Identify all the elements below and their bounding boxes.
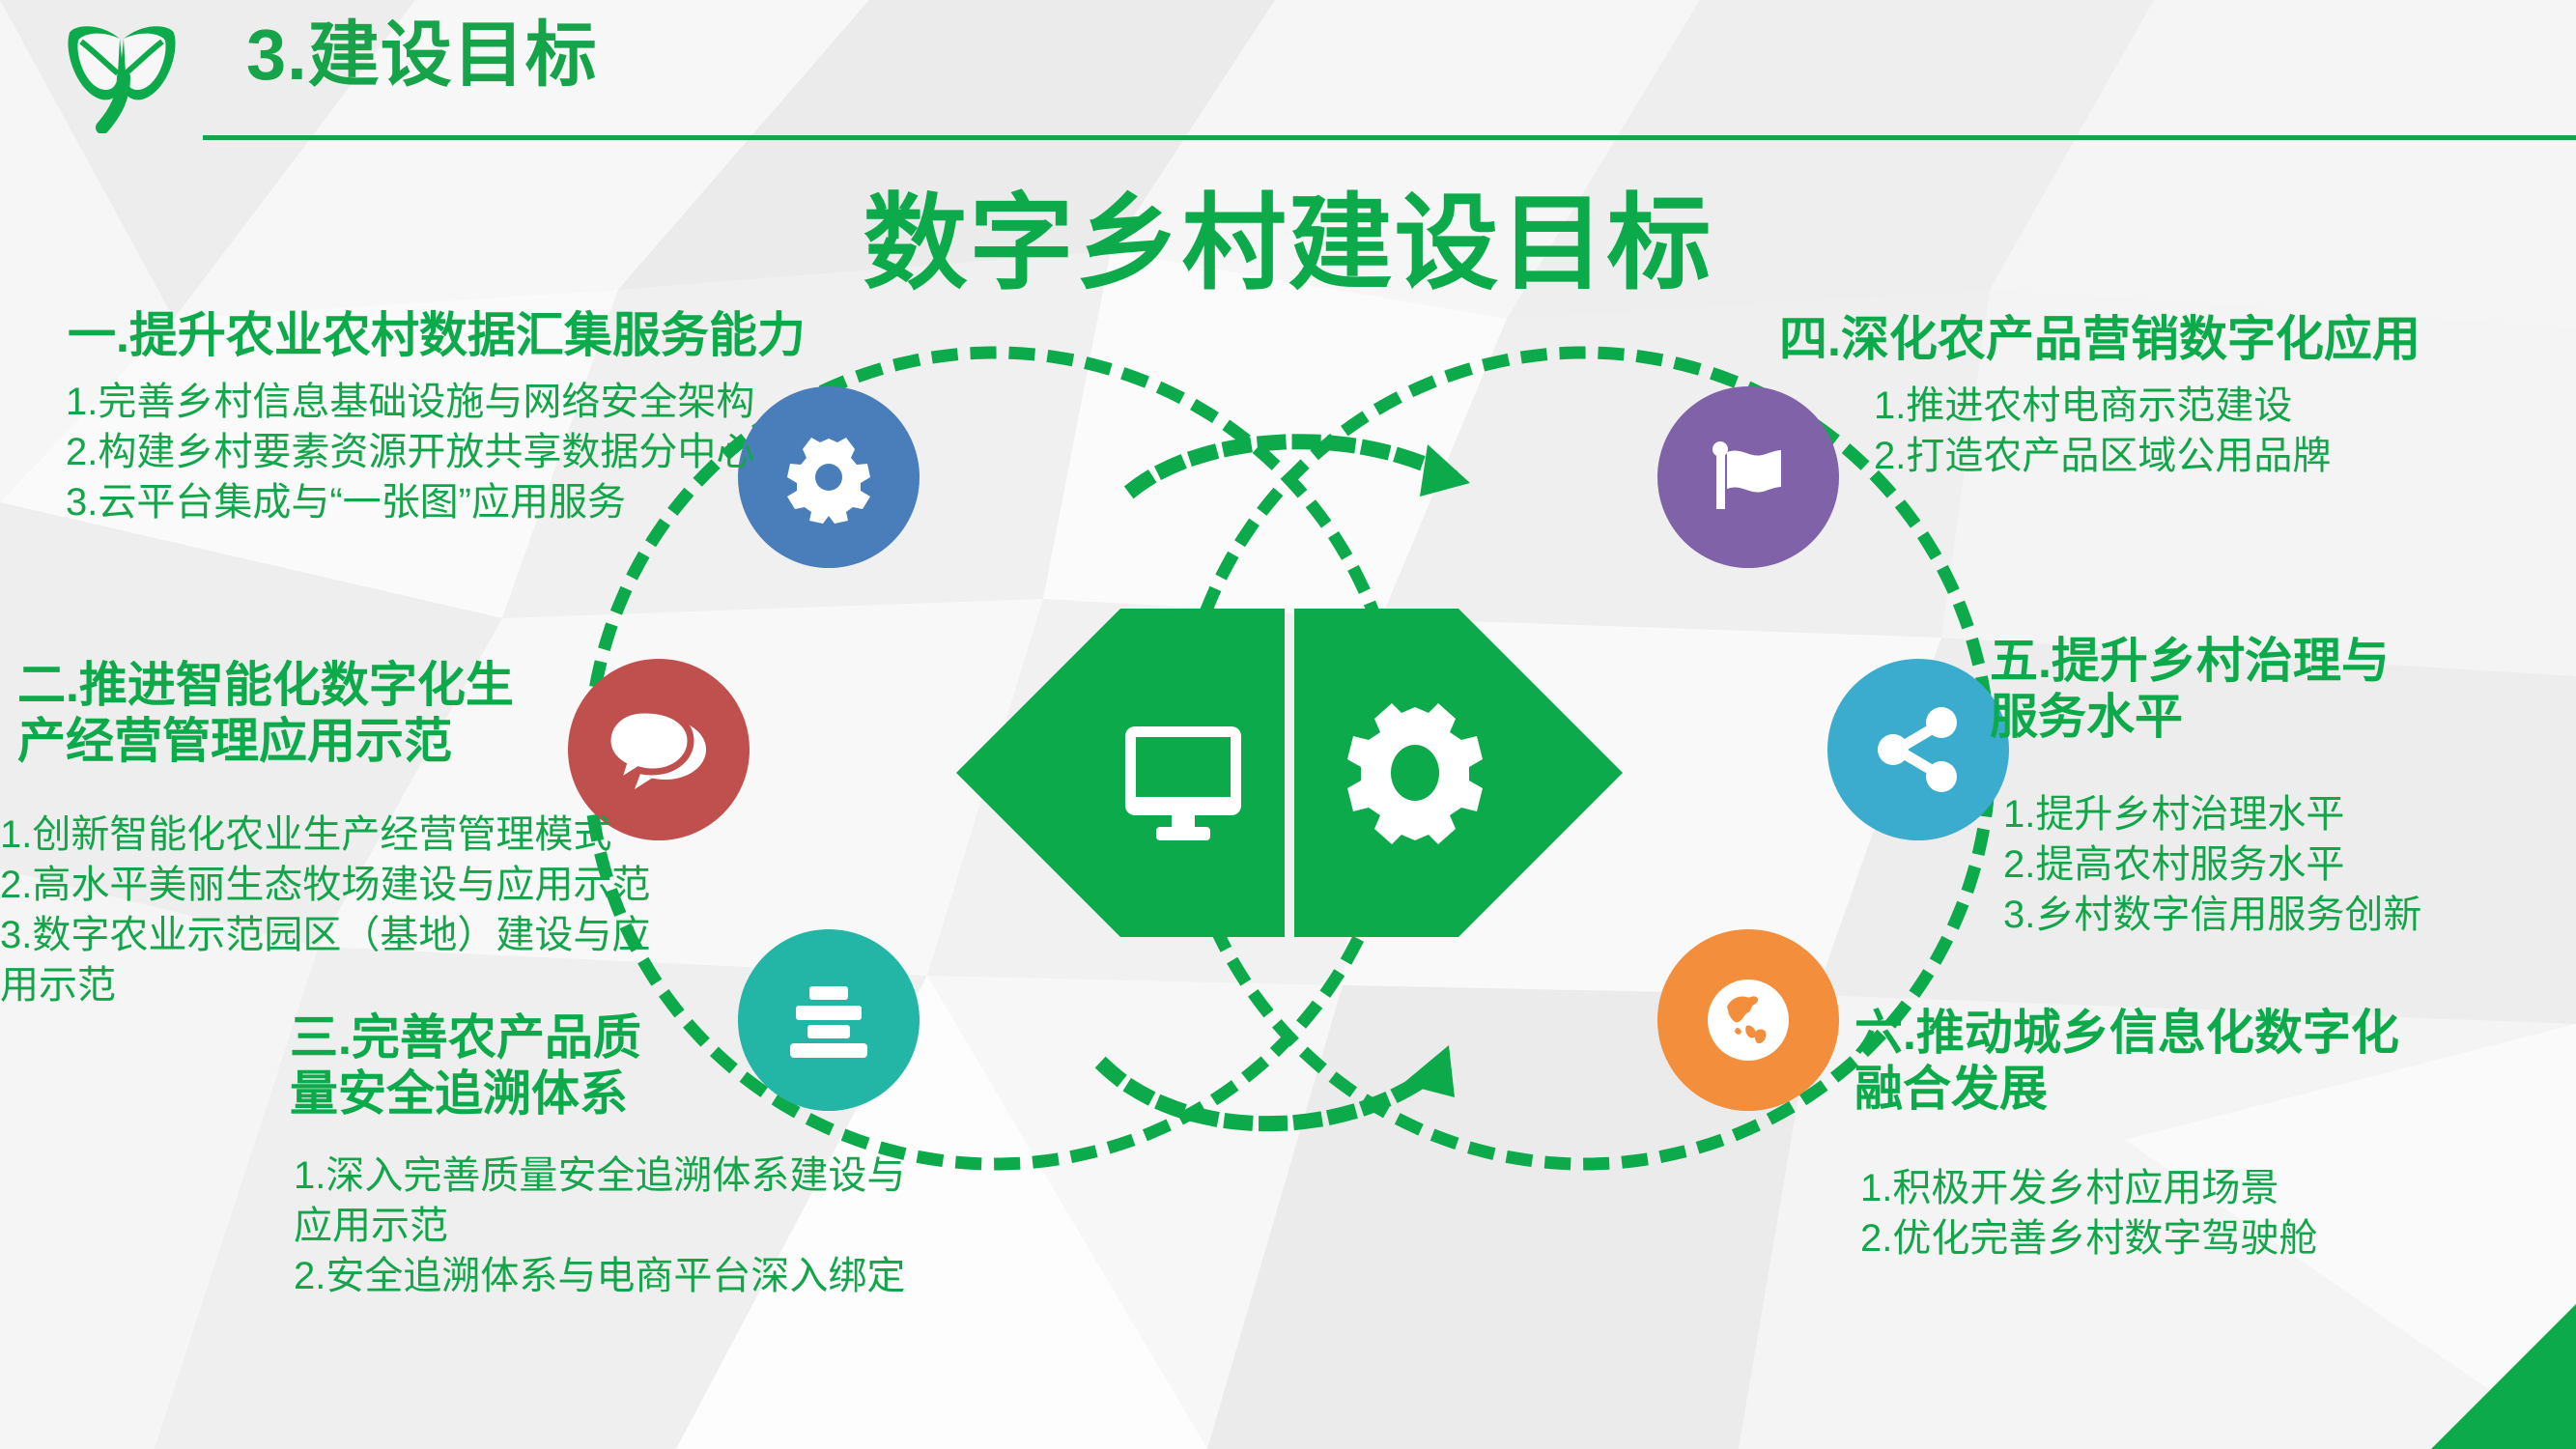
section-four-heading: 四.深化农产品营销数字化应用 [1729,311,2560,367]
top-arrowhead [1420,444,1470,497]
section-three-heading: 三.完善农产品质 量安全追溯体系 [222,1009,937,1122]
section-five-list: 1.提升乡村治理水平 2.提高农村服务水平 3.乡村数字信用服务创新 [2003,789,2569,940]
section-three: 三.完善农产品质 量安全追溯体系 1.深入完善质量安全追溯体系建设与 应用示范 … [222,1009,937,1301]
list-item: 3.云平台集成与“一张图”应用服务 [66,477,908,527]
globe-icon [1704,976,1793,1065]
page-title: 3.建设目标 [246,17,598,93]
list-item: 3.乡村数字信用服务创新 [2003,890,2569,940]
section-five-heading: 五.提升乡村治理与 服务水平 [1990,633,2569,745]
node-circle-six[interactable] [1657,929,1839,1111]
slide-header: 3.建设目标 [0,0,2576,145]
section-six: 六.推动城乡信息化数字化 融合发展 1.积极开发乡村应用场景 2.优化完善乡村数… [1854,1005,2576,1264]
section-three-list: 1.深入完善质量安全追溯体系建设与 应用示范 2.安全追溯体系与电商平台深入绑定 [294,1151,937,1301]
center-hexagon-graphic [951,609,1628,937]
main-title: 数字乡村建设目标 [0,159,2576,310]
section-one: 一.提升农业农村数据汇集服务能力 1.完善乡村信息基础设施与网络安全架构 2.构… [39,307,908,527]
list-item: 1.提升乡村治理水平 [2003,789,2569,839]
node-circle-five[interactable] [1827,659,2009,840]
list-item: 2.提高农村服务水平 [2003,839,2569,890]
list-item: 2.打造农产品区域公用品牌 [1874,431,2560,481]
list-item: 1.推进农村电商示范建设 [1874,381,2560,431]
list-item: 3.数字农业示范园区（基地）建设与应 用示范 [0,910,753,1010]
section-four: 四.深化农产品营销数字化应用 1.推进农村电商示范建设 2.打造农产品区域公用品… [1729,311,2560,481]
section-six-list: 1.积极开发乡村应用场景 2.优化完善乡村数字驾驶舱 [1860,1163,2576,1264]
header-divider [203,135,2576,140]
list-item: 1.积极开发乡村应用场景 [1860,1163,2576,1213]
section-two: 二.推进智能化数字化生 产经营管理应用示范 1.创新智能化农业生产经营管理模式 … [0,657,753,1010]
section-six-heading: 六.推动城乡信息化数字化 融合发展 [1854,1005,2576,1117]
section-two-list: 1.创新智能化农业生产经营管理模式 2.高水平美丽生态牧场建设与应用示范 3.数… [0,810,753,1010]
list-item: 1.深入完善质量安全追溯体系建设与 应用示范 [294,1151,937,1251]
section-one-list: 1.完善乡村信息基础设施与网络安全架构 2.构建乡村要素资源开放共享数据分中心 … [66,377,908,527]
list-item: 2.安全追溯体系与电商平台深入绑定 [294,1251,937,1301]
section-one-heading: 一.提升农业农村数据汇集服务能力 [39,307,908,363]
list-item: 2.构建乡村要素资源开放共享数据分中心 [66,427,908,477]
corner-accent-triangle [2431,1304,2576,1449]
list-item: 2.优化完善乡村数字驾驶舱 [1860,1213,2576,1264]
bottom-flow-arc [1106,1067,1439,1123]
section-five: 五.提升乡村治理与 服务水平 1.提升乡村治理水平 2.提高农村服务水平 3.乡… [1990,633,2569,940]
slide-canvas: 3.建设目标 数字乡村建设目标 [0,0,2576,1449]
section-four-list: 1.推进农村电商示范建设 2.打造农产品区域公用品牌 [1874,381,2560,481]
section-two-heading: 二.推进智能化数字化生 产经营管理应用示范 [0,657,753,769]
list-item: 2.高水平美丽生态牧场建设与应用示范 [0,860,753,910]
leaf-icon [60,17,185,133]
list-item: 1.创新智能化农业生产经营管理模式 [0,810,753,860]
share-icon [1872,703,1965,796]
list-item: 1.完善乡村信息基础设施与网络安全架构 [66,377,908,427]
